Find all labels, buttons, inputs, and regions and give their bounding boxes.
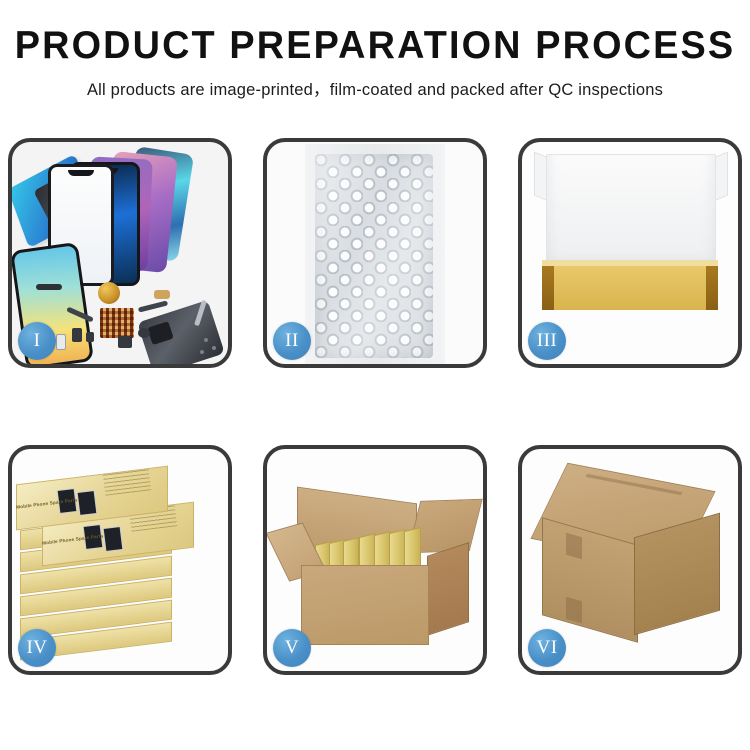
process-step-grid: I II III: [8, 138, 742, 675]
camera-module-icon: [118, 336, 132, 348]
page-header: PRODUCT PREPARATION PROCESS All products…: [0, 0, 750, 100]
step-badge-3: III: [528, 322, 566, 360]
step-badge-4: IV: [18, 629, 56, 667]
step-panel-1[interactable]: I: [8, 138, 232, 368]
copper-coil-icon: [98, 282, 120, 304]
step-panel-4[interactable]: Mobile Phone Spare Parts Mobile Phone Sp…: [8, 445, 232, 675]
screw-icon-1: [204, 338, 208, 342]
page-title: PRODUCT PREPARATION PROCESS: [11, 26, 739, 67]
step-badge-6: VI: [528, 629, 566, 667]
flex-cable-right-icon: [138, 300, 168, 312]
page-subtitle: All products are image-printed，film-coat…: [0, 76, 750, 100]
step-badge-1: I: [18, 322, 56, 360]
carton-side-right: [427, 542, 469, 636]
box-screen-image-4: [103, 526, 124, 552]
step-panel-5[interactable]: V: [263, 445, 487, 675]
carton-tape-lower: [566, 597, 582, 624]
box-side-right: [706, 266, 718, 310]
kraft-box-body-icon: [542, 266, 718, 310]
step-panel-6[interactable]: VI: [518, 445, 742, 675]
speaker-icon: [138, 328, 150, 338]
carton-tape-upper: [566, 533, 582, 560]
plastic-sheen: [315, 154, 433, 358]
step-panel-3[interactable]: III: [518, 138, 742, 368]
box-lid-icon: [546, 154, 716, 274]
screw-icon-3: [200, 350, 204, 354]
carton-front-icon: [301, 565, 429, 645]
screw-icon-2: [212, 346, 216, 350]
box-side-left: [542, 266, 554, 310]
logic-board-icon: [100, 308, 134, 338]
ribbon-cable-icon: [36, 284, 62, 290]
step-badge-5: V: [273, 629, 311, 667]
sim-tray-icon: [56, 334, 66, 350]
step-panel-2[interactable]: II: [263, 138, 487, 368]
gold-bracket-icon: [154, 290, 170, 299]
chip-icon-2: [86, 332, 94, 342]
chip-icon-1: [72, 328, 82, 342]
box-screen-image-2: [77, 490, 98, 516]
step-badge-2: II: [273, 322, 311, 360]
